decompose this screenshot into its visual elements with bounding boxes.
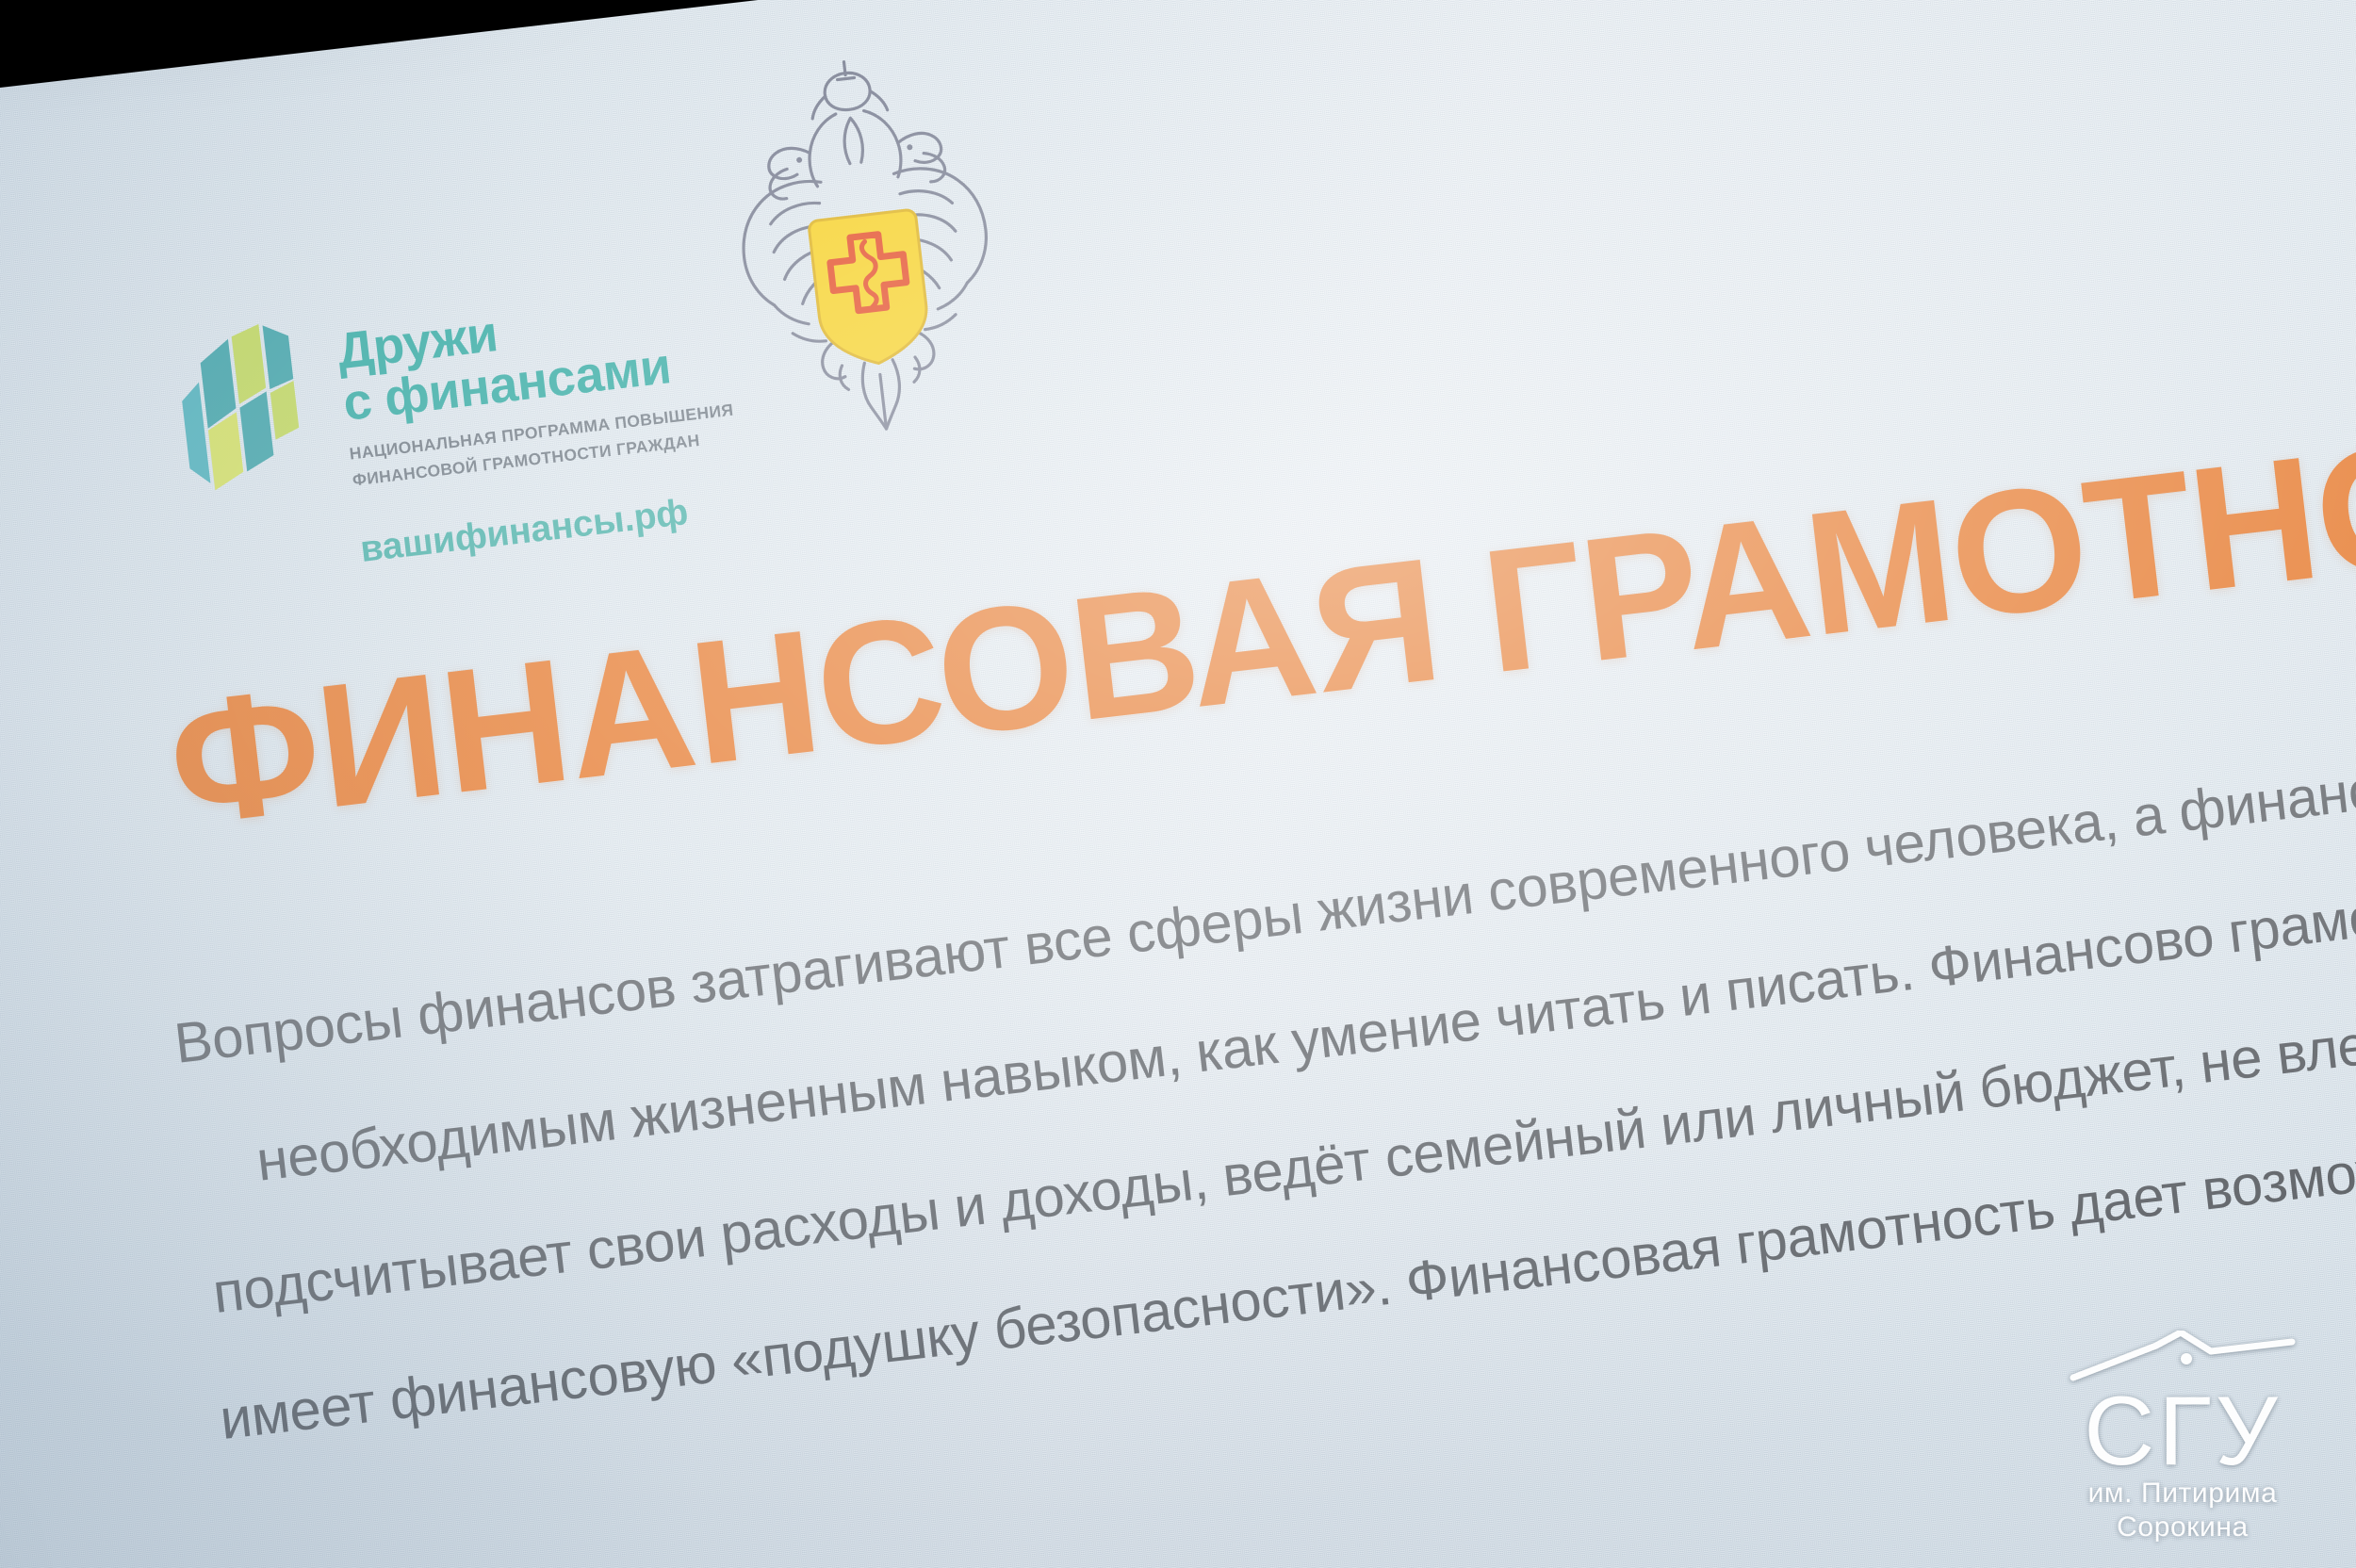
photo-of-projection-screen: Дружи с финансами НАЦИОНАЛЬНАЯ ПРОГРАММА… xyxy=(0,0,2356,1568)
brand-website-url: вашифинансы.рф xyxy=(358,485,746,571)
slide-content: Дружи с финансами НАЦИОНАЛЬНАЯ ПРОГРАММА… xyxy=(0,0,2356,1568)
brand-logo-text: Дружи с финансами НАЦИОНАЛЬНАЯ ПРОГРАММА… xyxy=(333,266,746,571)
brand-logo: Дружи с финансами НАЦИОНАЛЬНАЯ ПРОГРАММА… xyxy=(168,266,746,590)
rospotrebnadzor-emblem-icon xyxy=(689,39,1041,449)
slide-body-text: Вопросы финансов затрагивают все сферы ж… xyxy=(172,751,2356,1518)
druzhi-s-finansami-mark-icon xyxy=(168,313,330,516)
projection-screen: Дружи с финансами НАЦИОНАЛЬНАЯ ПРОГРАММА… xyxy=(0,0,2356,1568)
